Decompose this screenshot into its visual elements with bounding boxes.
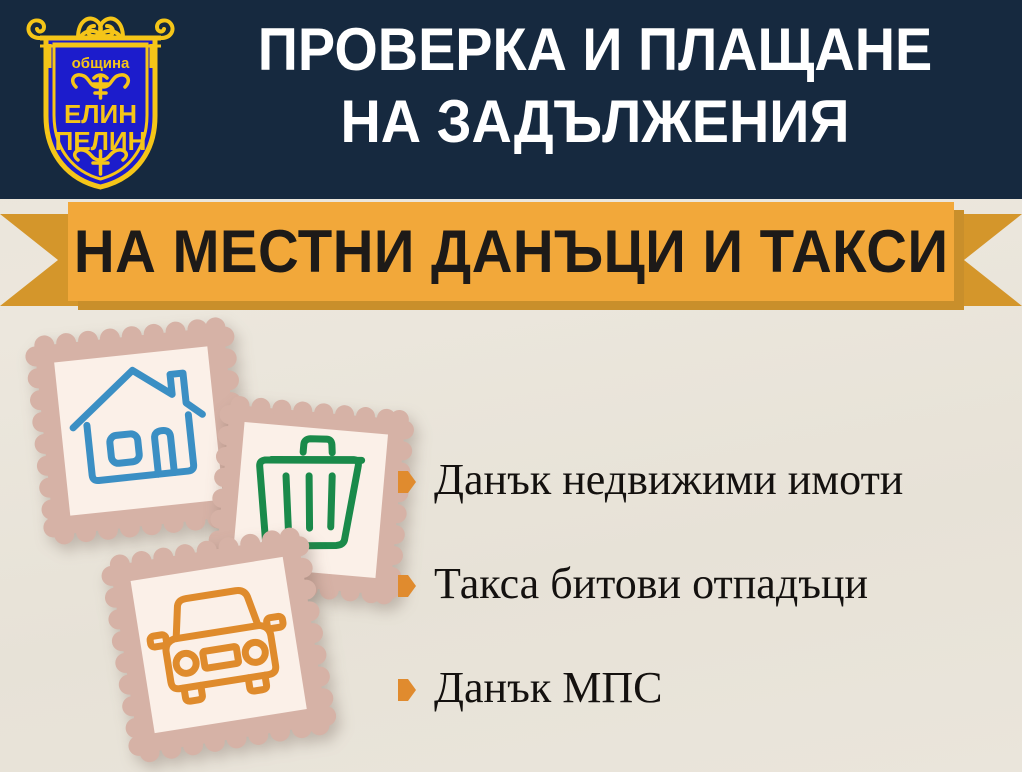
municipality-logo: община ЕЛИН ПЕЛИН [18,8,183,190]
logo-text-top: община [72,55,130,72]
list-item-label: Данък недвижими имоти [434,455,903,505]
arrow-bullet-icon [398,575,416,597]
logo-text-line-1: ЕЛИН [64,99,137,129]
list-item-label: Данък МПС [434,663,662,713]
page-title-line-1: ПРОВЕРКА И ПЛАЩАНЕ [209,14,981,86]
list-item[interactable]: Такса битови отпадъци [398,532,1010,636]
poster-canvas: ПРОВЕРКА И ПЛАЩАНЕ НА ЗАДЪЛЖЕНИЯ община [0,0,1022,772]
banner-plate: НА МЕСТНИ ДАНЪЦИ И ТАКСИ [68,202,954,301]
arrow-bullet-icon [398,679,416,701]
list-item-label: Такса битови отпадъци [434,559,868,609]
list-item[interactable]: Данък МПС [398,636,1010,740]
page-title: ПРОВЕРКА И ПЛАЩАНЕ НА ЗАДЪЛЖЕНИЯ [209,14,981,158]
arrow-bullet-icon [398,471,416,493]
banner: НА МЕСТНИ ДАНЪЦИ И ТАКСИ [0,196,1022,311]
banner-text: НА МЕСТНИ ДАНЪЦИ И ТАКСИ [74,222,949,282]
car-stamp [94,522,344,772]
page-title-line-2: НА ЗАДЪЛЖЕНИЯ [209,86,981,158]
list-item[interactable]: Данък недвижими имоти [398,428,1010,532]
coat-of-arms-icon: община ЕЛИН ПЕЛИН [18,8,183,190]
tax-type-list: Данък недвижими имоти Такса битови отпад… [398,428,1010,740]
